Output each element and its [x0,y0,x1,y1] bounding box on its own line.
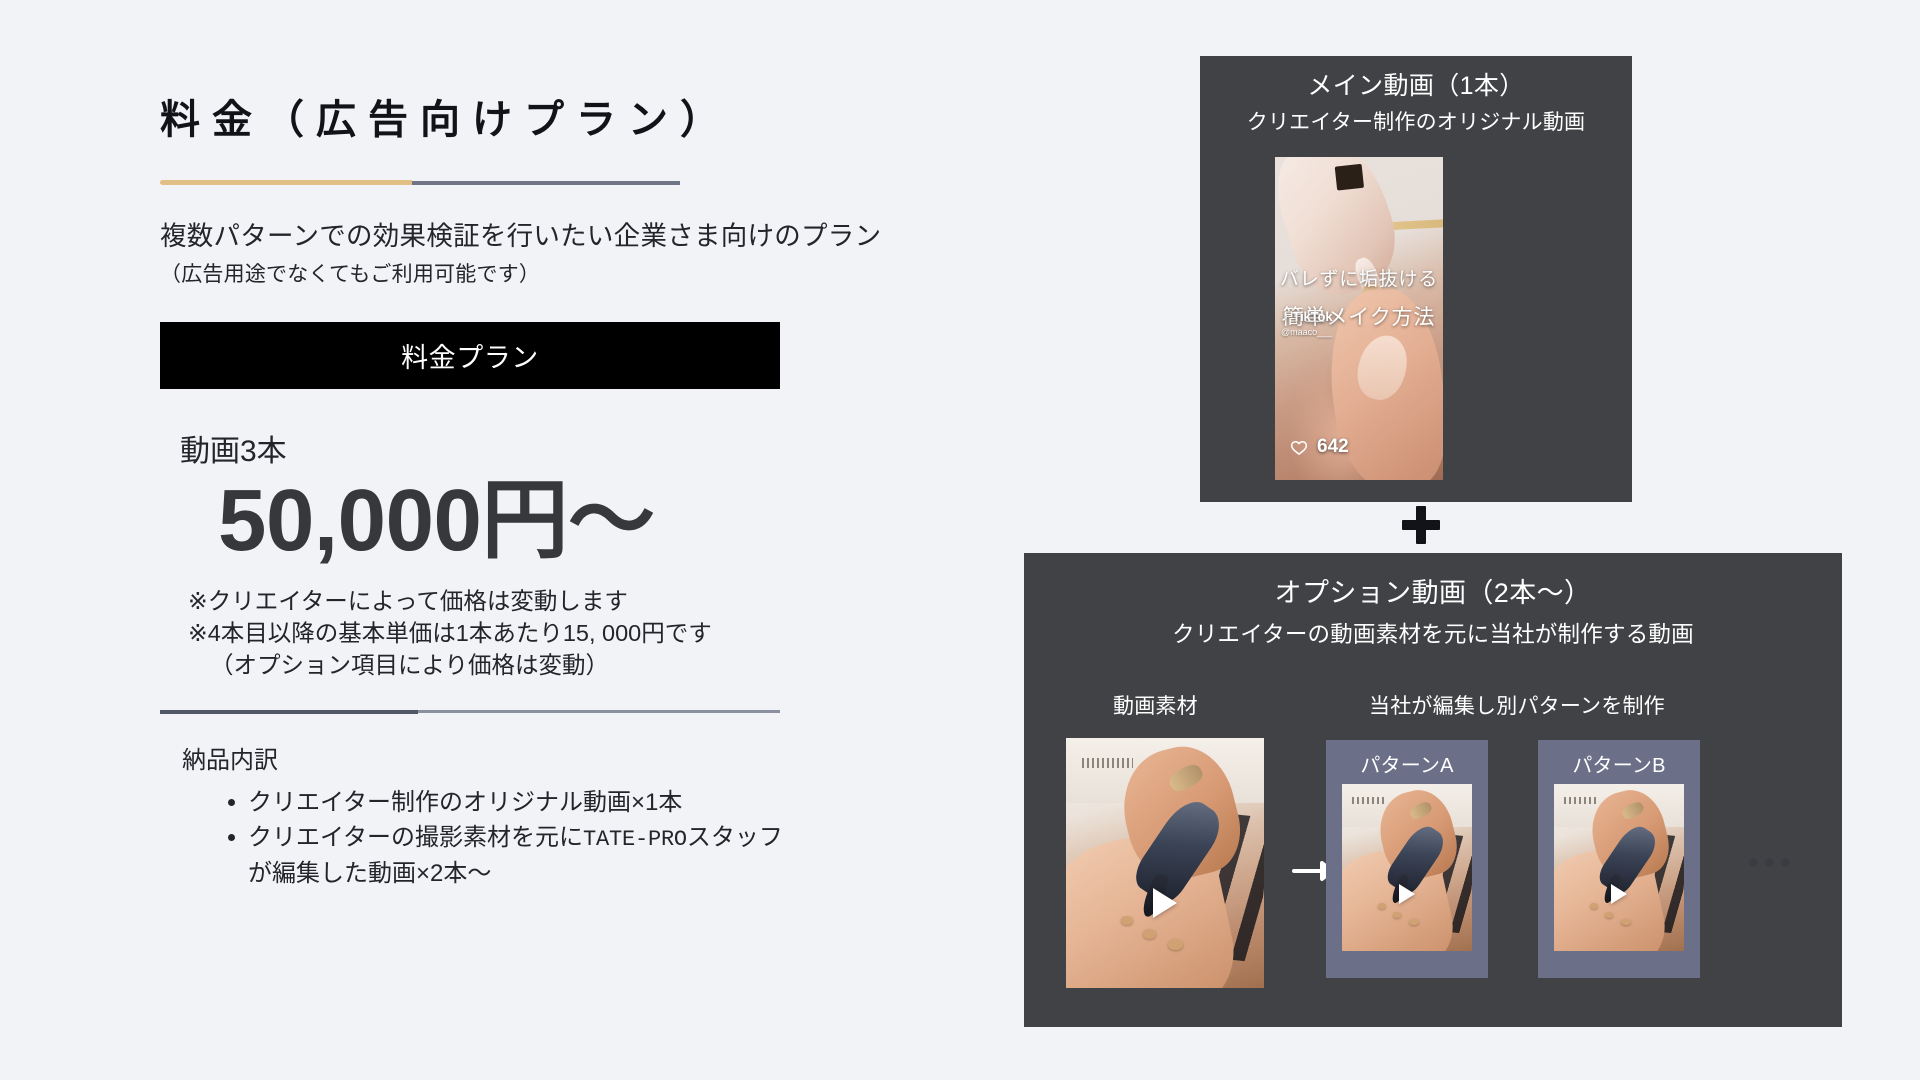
tiktok-wordmark: TikTok [1293,309,1333,324]
like-count-group: 642 [1289,436,1349,458]
dot-3 [1781,858,1790,867]
option-video-title: オプション動画（2本〜） [1024,575,1842,611]
divider-dark-segment [160,710,418,714]
foundation-swatch-photo [1342,784,1472,951]
delivery-item-2-brand: TATE-PRO [583,827,687,852]
music-note-icon: ♪ [1281,309,1289,324]
lead-text: 複数パターンでの効果検証を行いたい企業さま向けのプラン [160,219,840,255]
underline-gray-segment [412,181,680,185]
tiktok-handle: @maaco___ [1281,327,1332,337]
title-underline [160,180,680,185]
option-video-subtitle: クリエイターの動画素材を元に当社が制作する動画 [1024,620,1842,649]
pattern-card-b[interactable]: パターンB [1538,740,1700,978]
dot-1 [1749,858,1758,867]
video-overlay-line1: バレずに垢抜ける [1275,264,1443,291]
photo-detail-swatches [1121,913,1204,953]
list-item: クリエイター制作のオリジナル動画×1本 [226,785,806,820]
foundation-swatch-photo [1066,738,1264,988]
main-video-subtitle: クリエイター制作のオリジナル動画 [1200,109,1632,136]
list-item: クリエイターの撮影素材を元にTATE-PROスタッフが編集した動画×2本〜 [226,820,806,891]
source-material-label: 動画素材 [1113,690,1198,720]
lead-subtext: （広告用途でなくてもご利用可能です） [160,258,840,288]
tiktok-watermark: ♪ TikTok [1281,309,1332,324]
divider-light-segment [418,710,780,713]
source-material-thumbnail[interactable] [1066,738,1264,988]
delivery-item-2-text-before: クリエイターの撮影素材を元に [248,824,583,851]
pattern-a-thumbnail[interactable] [1342,784,1472,951]
edited-patterns-label: 当社が編集し別パターンを制作 [1369,690,1665,720]
plan-bar-label: 料金プラン [401,336,539,375]
delivery-item-1-text: クリエイター制作のオリジナル動画×1本 [248,789,682,816]
price-amount: 50,000円〜 [218,472,840,569]
foundation-swatch-photo [1554,784,1684,951]
pattern-b-thumbnail[interactable] [1554,784,1684,951]
slide-root: 料金（広告向けプラン） 複数パターンでの効果検証を行いたい企業さま向けのプラン … [0,0,1920,1080]
play-icon[interactable] [1153,888,1177,918]
plus-icon [1402,506,1440,544]
delivery-list: クリエイター制作のオリジナル動画×1本 クリエイターの撮影素材を元にTATE-P… [226,785,840,891]
photo-detail-swatches [1590,901,1645,928]
underline-gold-segment [160,180,412,185]
price-note-3: （オプション項目により価格は変動） [210,649,840,681]
plan-bar: 料金プラン [160,322,780,389]
like-count: 642 [1317,436,1349,458]
main-video-thumbnail[interactable]: バレずに垢抜ける 簡単メイク方法 ♪ TikTok @maaco___ 642 [1275,157,1443,480]
pattern-card-a[interactable]: パターンA [1326,740,1488,978]
photo-detail-swatches [1378,901,1433,928]
play-icon[interactable] [1611,884,1627,904]
dot-2 [1765,858,1774,867]
delivery-title: 納品内訳 [182,740,840,775]
heart-icon [1289,437,1309,457]
more-patterns-indicator [1749,858,1790,867]
pattern-b-label: パターンB [1538,749,1700,778]
section-divider [160,710,780,714]
price-notes: ※クリエイターによって価格は変動します ※4本目以降の基本単価は1本あたり15,… [188,585,840,682]
quantity-label: 動画3本 [180,426,840,470]
page-title: 料金（広告向けプラン） [160,96,840,144]
play-icon[interactable] [1399,884,1415,904]
price-note-2: ※4本目以降の基本単価は1本あたり15, 000円です [188,617,840,649]
pricing-section: 料金（広告向けプラン） 複数パターンでの効果検証を行いたい企業さま向けのプラン … [160,96,840,891]
main-video-title: メイン動画（1本） [1200,70,1632,104]
pattern-a-label: パターンA [1326,749,1488,778]
price-note-1: ※クリエイターによって価格は変動します [188,585,840,617]
